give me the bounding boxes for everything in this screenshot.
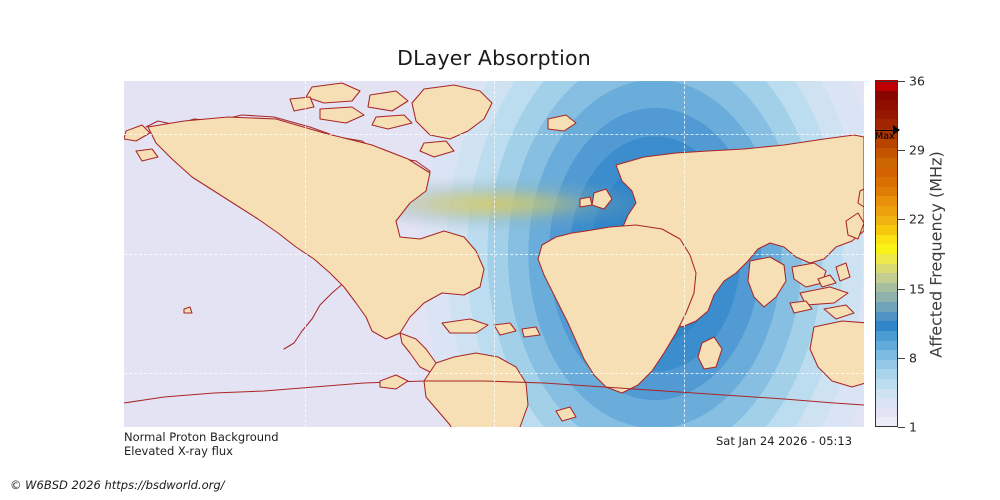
world-map-panel (124, 81, 864, 427)
colorbar-tick (898, 81, 905, 82)
status-proton-background: Normal Proton Background (124, 430, 279, 444)
colorbar-tick-label: 29 (909, 143, 925, 158)
colorbar-max-marker: Max (875, 123, 898, 141)
colorbar-tick (898, 289, 905, 290)
status-xray-flux: Elevated X-ray flux (124, 444, 233, 458)
colorbar-title-text: Affected Frequency (MHz) (927, 151, 946, 357)
colorbar-tick (898, 358, 905, 359)
page-title: DLayer Absorption (124, 46, 864, 70)
colorbar-tick-label: 15 (909, 281, 925, 296)
colorbar-tick (898, 219, 905, 220)
gridline-horizontal (124, 254, 864, 255)
colorbar-tick-label: 22 (909, 212, 925, 227)
colorbar-tick-label: 36 (909, 74, 925, 89)
credit-line[interactable]: © W6BSD 2026 https://bsdworld.org/ (10, 478, 225, 492)
max-label: Max (875, 131, 895, 142)
timestamp: Sat Jan 24 2026 - 05:13 (716, 434, 852, 448)
colorbar-tick (898, 150, 905, 151)
dlayer-absorption-figure: DLayer Absorption (0, 0, 1000, 500)
gridline-horizontal (124, 134, 864, 135)
colorbar-tick-label: 1 (909, 420, 917, 435)
colorbar-tick (898, 427, 905, 428)
colorbar-title: Affected Frequency (MHz) (924, 81, 948, 427)
colorbar-tick-label: 8 (909, 350, 917, 365)
graticule (124, 81, 864, 427)
gridline-horizontal (124, 373, 864, 374)
